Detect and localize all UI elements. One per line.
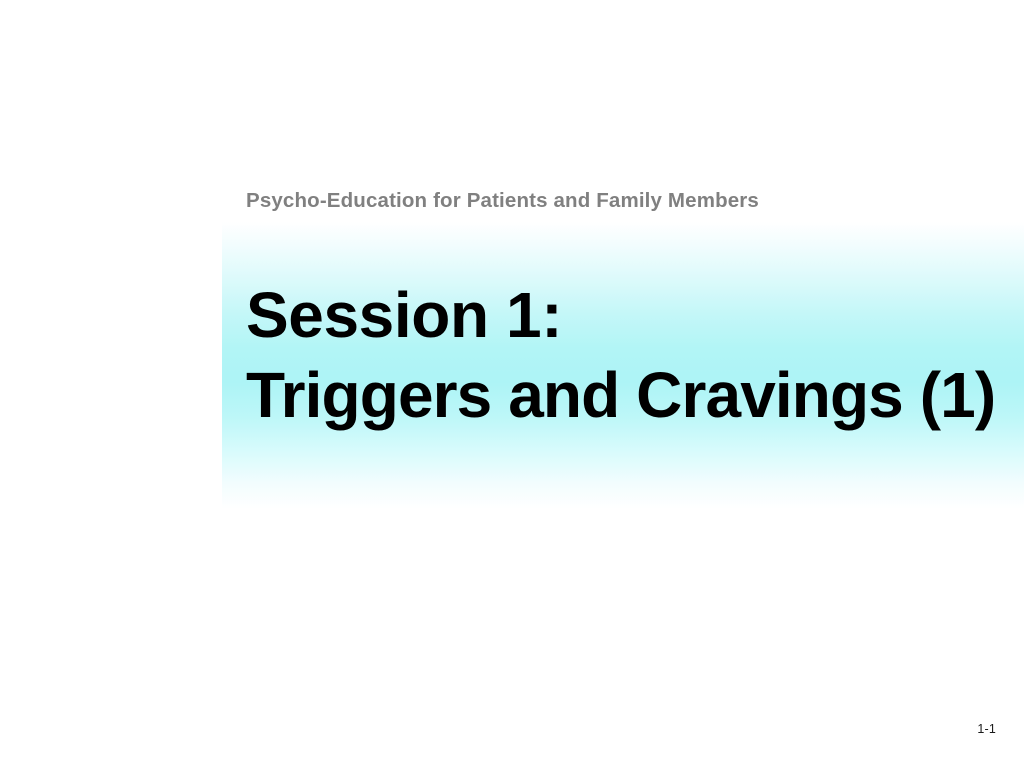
slide-subtitle: Psycho-Education for Patients and Family…: [246, 189, 1006, 213]
slide-title-line-2: Triggers and Cravings (1): [246, 363, 1024, 427]
page-number: 1-1: [977, 722, 996, 736]
slide-title-block: Session 1: Triggers and Cravings (1): [246, 283, 1024, 427]
slide-title-line-1: Session 1:: [246, 283, 1024, 363]
presentation-slide: Psycho-Education for Patients and Family…: [0, 0, 1024, 768]
